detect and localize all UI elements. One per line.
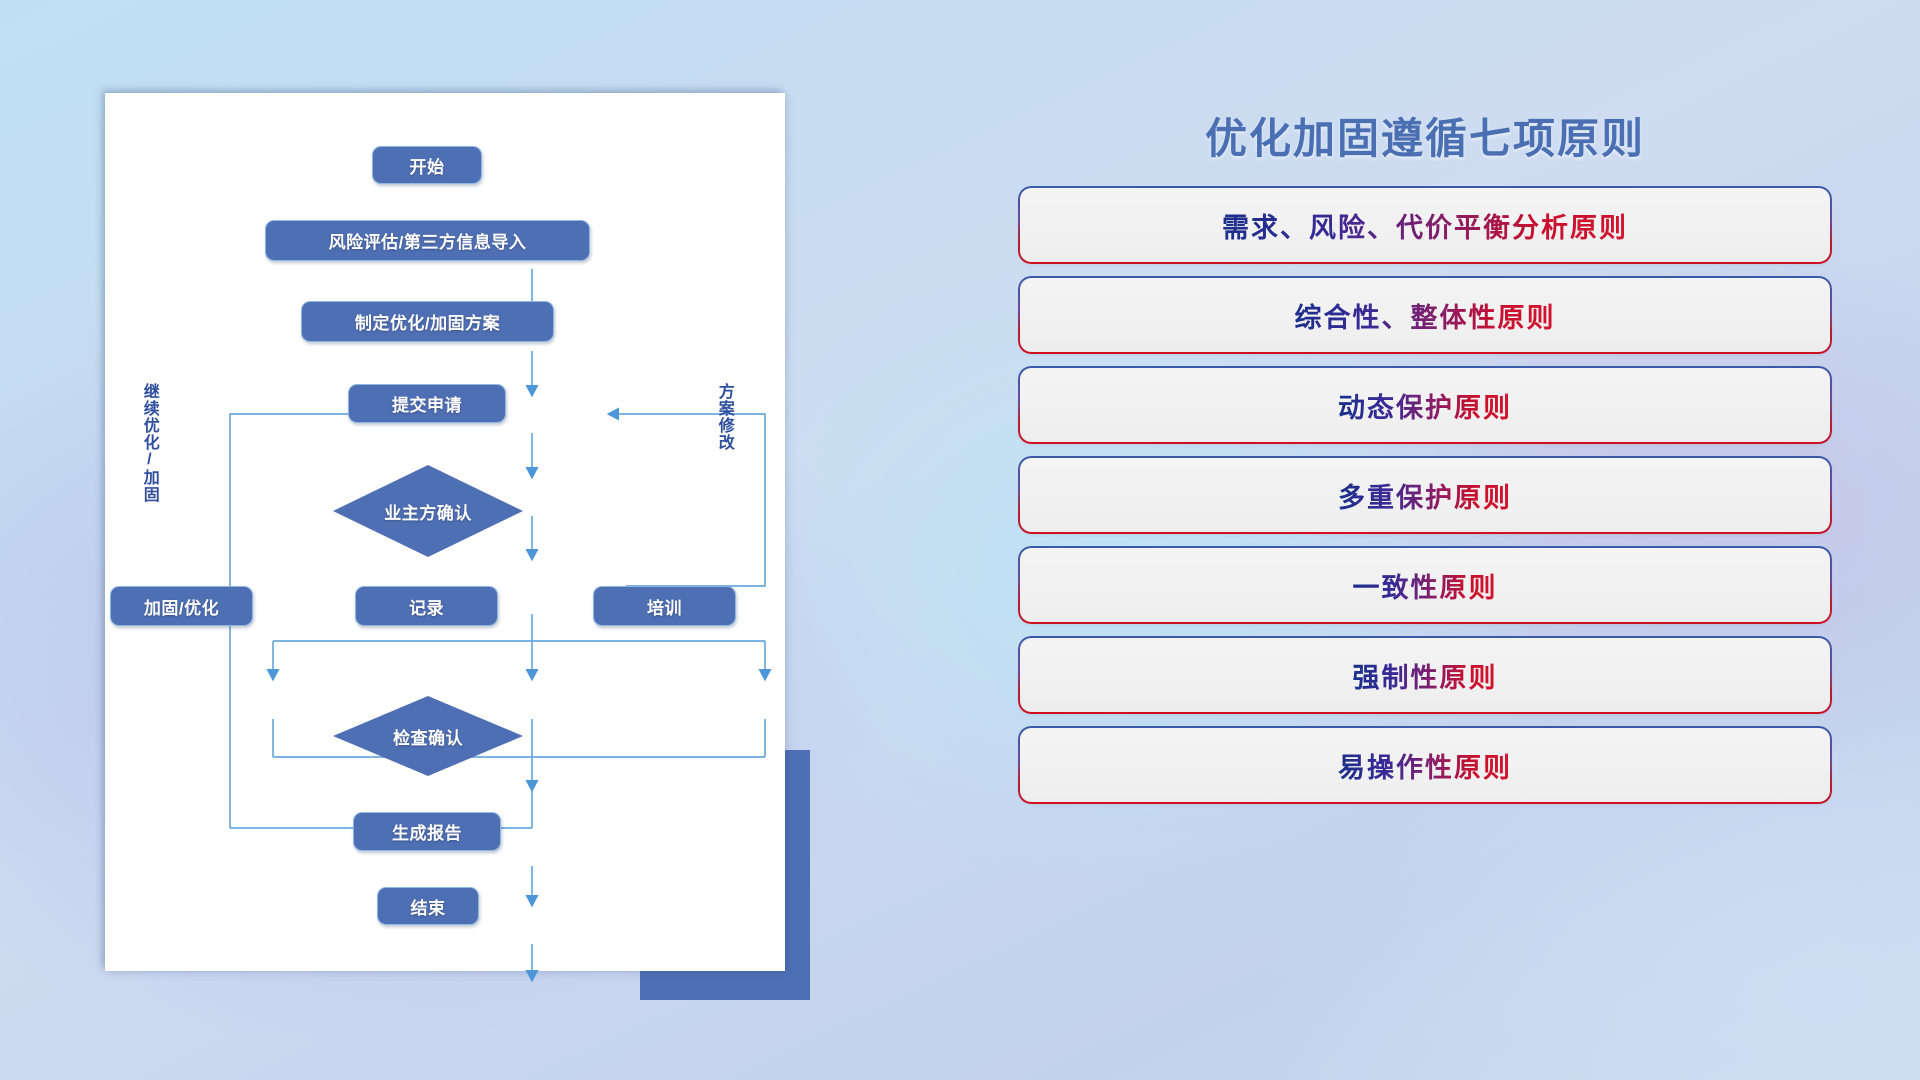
principle-label: 一致性原则 xyxy=(1353,566,1498,605)
principle-card[interactable]: 易操作性原则 xyxy=(1020,728,1830,802)
flow-node-end[interactable]: 结束 xyxy=(377,887,479,925)
edge-label-right: 方案修改 xyxy=(715,383,732,451)
flow-node-training[interactable]: 培训 xyxy=(593,586,736,626)
principle-label: 动态保护原则 xyxy=(1338,386,1512,425)
flow-node-label: 开始 xyxy=(410,153,445,178)
flow-node-submit-application[interactable]: 提交申请 xyxy=(348,384,506,423)
principle-card[interactable]: 多重保护原则 xyxy=(1020,458,1830,532)
principle-card[interactable]: 需求、风险、代价平衡分析原则 xyxy=(1020,188,1830,262)
flow-decision-check-confirm[interactable]: 检查确认 xyxy=(333,696,523,776)
principle-label: 综合性、整体性原则 xyxy=(1295,296,1556,335)
flow-node-label: 制定优化/加固方案 xyxy=(355,309,500,334)
flow-node-risk-assessment[interactable]: 风险评估/第三方信息导入 xyxy=(265,220,590,261)
principles-title: 优化加固遵循七项原则 xyxy=(1020,105,1830,166)
principle-label: 强制性原则 xyxy=(1353,656,1498,695)
principle-card[interactable]: 综合性、整体性原则 xyxy=(1020,278,1830,352)
flowchart-card: 继续优化/加固 方案修改 开始 风险评估/第三方信息导入 制定优化/加固方案 提… xyxy=(105,93,785,971)
principle-label: 多重保护原则 xyxy=(1338,476,1512,515)
flow-decision-owner-confirm[interactable]: 业主方确认 xyxy=(333,465,523,557)
flow-node-label: 加固/优化 xyxy=(144,594,219,619)
flow-node-label: 生成报告 xyxy=(392,819,462,844)
flow-node-label: 业主方确认 xyxy=(384,499,472,524)
principle-card[interactable]: 动态保护原则 xyxy=(1020,368,1830,442)
flow-node-label: 风险评估/第三方信息导入 xyxy=(329,228,527,253)
principle-label: 需求、风险、代价平衡分析原则 xyxy=(1222,206,1628,245)
principle-label: 易操作性原则 xyxy=(1338,746,1512,785)
flow-node-label: 提交申请 xyxy=(392,391,462,416)
flow-node-plan[interactable]: 制定优化/加固方案 xyxy=(301,301,554,342)
flow-node-start[interactable]: 开始 xyxy=(372,146,482,184)
flow-node-reinforce[interactable]: 加固/优化 xyxy=(110,586,253,626)
principle-card[interactable]: 一致性原则 xyxy=(1020,548,1830,622)
principle-card[interactable]: 强制性原则 xyxy=(1020,638,1830,712)
flow-node-label: 结束 xyxy=(411,894,446,919)
slide-root: 继续优化/加固 方案修改 开始 风险评估/第三方信息导入 制定优化/加固方案 提… xyxy=(0,0,1920,1080)
flow-node-label: 培训 xyxy=(647,594,682,619)
flow-node-generate-report[interactable]: 生成报告 xyxy=(353,812,501,851)
principles-panel: 优化加固遵循七项原则 需求、风险、代价平衡分析原则 综合性、整体性原则 动态保护… xyxy=(1020,105,1830,1005)
flow-node-record[interactable]: 记录 xyxy=(355,586,498,626)
edge-label-left: 继续优化/加固 xyxy=(140,383,157,503)
flow-node-label: 记录 xyxy=(409,594,444,619)
flow-node-label: 检查确认 xyxy=(393,724,463,749)
